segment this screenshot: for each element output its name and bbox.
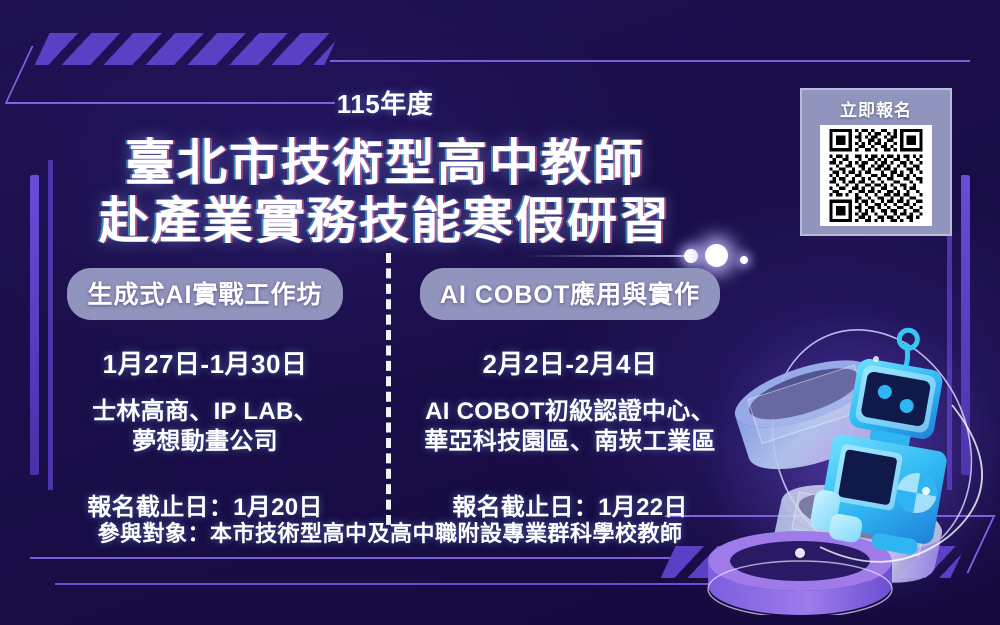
course-title-badge: 生成式AI實戰工作坊 [67, 268, 342, 320]
qr-registration-panel[interactable]: 立即報名 [800, 88, 952, 236]
poster-canvas: 115年度 臺北市技術型高中教師 赴產業實務技能寒假研習 立即報名 [0, 0, 1000, 625]
course-dates: 2月2日-2月4日 [415, 344, 725, 381]
frame-line-top [330, 60, 970, 62]
course-title-badge: AI COBOT應用與實作 [420, 268, 720, 320]
participant-eligibility-note: 參與對象：本市技術型高中及高中職附設專業群科學校教師 [0, 516, 780, 548]
page-title-line-2: 赴產業實務技能寒假研習 [0, 181, 770, 253]
qr-label: 立即報名 [840, 96, 912, 121]
diagonal-stripes [35, 33, 340, 65]
stripe-band-bottom-right [661, 546, 966, 578]
frame-line-bottom-left [55, 583, 755, 585]
course-card-right: AI COBOT應用與實作 2月2日-2月4日 AI COBOT初級認證中心、 … [415, 268, 725, 522]
frame-line-bottom [30, 557, 670, 559]
course-venue-line-1: AI COBOT初級認證中心、 [415, 397, 725, 427]
course-venue-line-2: 華亞科技園區、南崁工業區 [415, 427, 725, 457]
stripe-band-top-left [35, 33, 340, 65]
course-venue-line-1: 士林高商、IP LAB、 [55, 397, 355, 427]
connector-line [525, 255, 690, 257]
course-venue-line-2: 夢想動畫公司 [55, 427, 355, 457]
course-card-left: 生成式AI實戰工作坊 1月27日-1月30日 士林高商、IP LAB、 夢想動畫… [55, 268, 355, 522]
qr-code-icon[interactable] [820, 125, 932, 226]
glow-dot-icon [740, 256, 748, 264]
course-dates: 1月27日-1月30日 [55, 344, 355, 381]
side-bar-right-outer [961, 175, 970, 475]
column-divider [386, 253, 391, 525]
year-label: 115年度 [0, 84, 770, 121]
diagonal-stripes [661, 546, 966, 578]
